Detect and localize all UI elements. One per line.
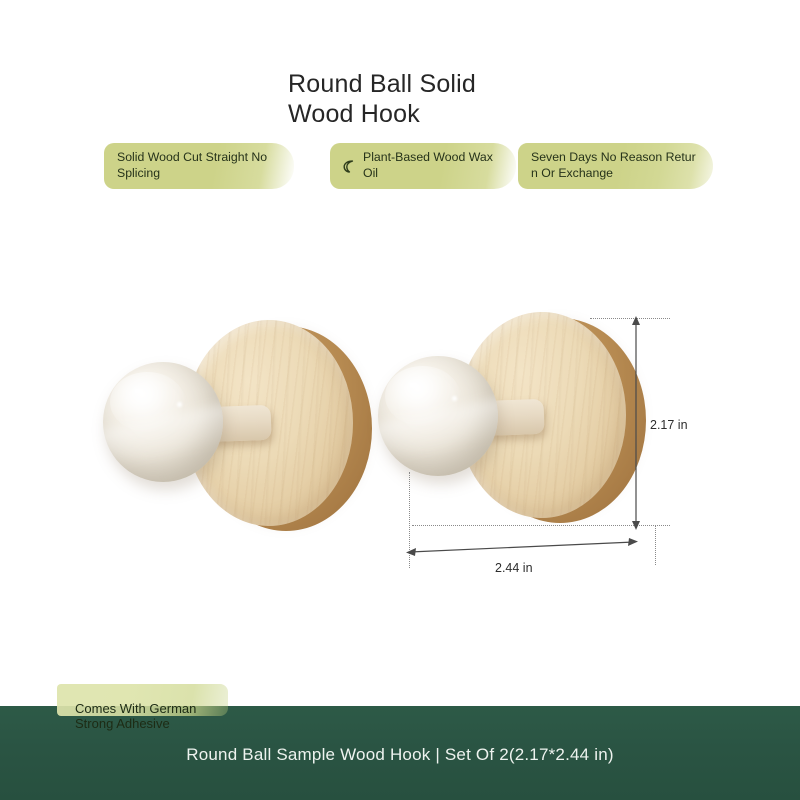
feature-badge-returns-label: Seven Days No Reason Retur n Or Exchange [531,150,696,181]
page-title: Round Ball Solid Wood Hook [288,70,688,129]
width-dimension-arrow [404,538,640,560]
height-dimension-label: 2.17 in [650,418,688,432]
banner-caption: Round Ball Sample Wood Hook | Set Of 2(2… [0,745,800,765]
feature-badge-wax-oil: Plant-Based Wood Wax Oil [330,143,516,189]
hook-ball-left [103,362,223,482]
width-dimension-label: 2.44 in [495,561,533,575]
feature-badge-solid-wood: Solid Wood Cut Straight No Splicing [104,143,294,189]
feature-badge-solid-wood-label: Solid Wood Cut Straight No Splicing [117,150,267,181]
product-photo: 2.17 in 2.44 in [0,300,800,600]
feature-badge-wax-oil-label: Plant-Based Wood Wax Oil [363,150,502,181]
product-image-canvas: Round Ball Solid Wood Hook Solid Wood Cu… [0,0,800,800]
height-dimension-arrow [624,314,648,532]
hook-ball-right [378,356,498,476]
feature-badge-returns: Seven Days No Reason Retur n Or Exchange [518,143,713,189]
leaf-icon [341,159,356,174]
adhesive-feature-badge: Comes With German Strong Adhesive [57,684,228,716]
feature-badge-row: Solid Wood Cut Straight No Splicing Plan… [0,143,800,195]
